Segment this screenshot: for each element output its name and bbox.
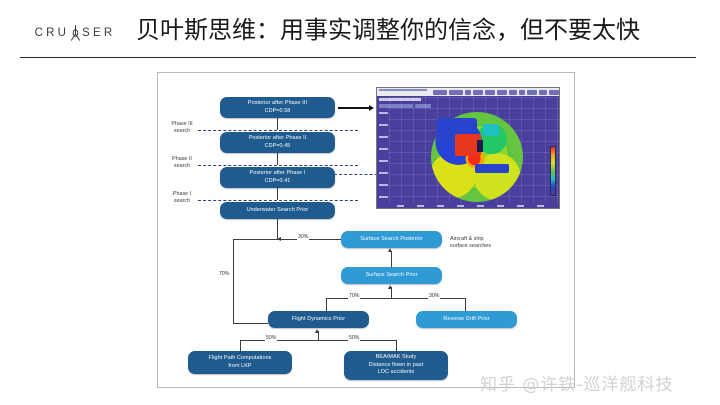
pct-30-to-underwater: 30% [297,234,309,240]
connector-uw-down [277,219,278,240]
pct-70-flight-dynamics: 70% [348,293,360,299]
arrow-fd-in [315,329,319,333]
arrow-ssprior-in [388,285,392,289]
connector-ssprior-ssposterior [391,251,392,267]
pct-50-flight-path: 50% [265,335,277,341]
diagram-canvas: Phase III search Phase II search Phase I… [158,73,576,389]
connector-bottom-left [240,340,241,351]
connector-30pct [281,239,341,240]
phase-3-divider [198,130,358,131]
phase-1-divider [198,200,358,201]
phase-3-label: Phase III search [162,121,202,135]
bayesian-search-diagram: Phase III search Phase II search Phase I… [157,72,575,388]
heatmap-pointer-arrow [369,105,374,111]
pct-50-bea-mak: 50% [348,335,360,341]
probability-distribution-heatmap [376,87,560,209]
connector-ssprior-down [391,287,392,298]
connector-70pct-bottom [233,323,268,324]
connector-70pct-top [233,239,281,240]
slide-root: CRU SER 贝叶斯思维：用事实调整你的信念，但不要太快 Phase III … [0,0,720,405]
page-title: 贝叶斯思维：用事实调整你的信念，但不要太快 [136,12,711,48]
heatmap-colorbar [550,146,556,196]
node-surface-search-prior[interactable]: Surface Search Prior [341,267,442,284]
node-underwater-search-prior[interactable]: Underwater Search Prior [220,202,335,219]
node-posterior-phase-1[interactable]: Posterior after Phase I CDP=0.41 [220,167,335,188]
node-bea-mak-study[interactable]: BEA/MAK Study Distance flown in past LOC… [344,351,448,380]
connector-bottom-bar [240,340,396,341]
connector-p1-p2 [277,152,278,165]
node-posterior-phase-2[interactable]: Posterior after Phase II CDP=0.45 [220,132,335,153]
heatmap-blue-region-2 [475,164,509,173]
logo-text-right: SER [82,27,115,39]
node-reverse-drift-prior[interactable]: Reverse Drift Prior [416,311,517,328]
pct-70-from-surface: 70% [218,271,230,277]
header-divider [20,57,696,58]
node-posterior-phase-3[interactable]: Posterior after Phase III CDP=0.58 [220,97,335,118]
connector-70pct-vertical [233,239,234,323]
zhihu-watermark: 知乎 @许铁-巡洋舰科技 [480,370,674,395]
phase-2-label: Phase II search [162,156,202,170]
connector-branch-right [465,298,466,311]
cruiser-ship-mark-icon [69,25,82,41]
connector-p2-p3 [277,117,278,130]
connector-branch-left [326,298,327,311]
surface-search-note: Aircraft & ship surface searches [450,236,520,250]
logo-text: CRU SER [35,25,116,41]
phase-2-divider [198,165,358,166]
node-flight-dynamics-prior[interactable]: Flight Dynamics Prior [268,311,369,328]
connector-bottom-right [396,340,397,351]
phase-1-label: Phase I search [162,191,202,205]
pct-30-reverse-drift: 30% [428,293,440,299]
heatmap-marker [477,140,483,152]
arrow-ssprior-ssposterior [388,248,392,252]
node-surface-search-posterior[interactable]: Surface Search Posterior [341,231,442,248]
connector-branch-bar [326,298,465,299]
heatmap-menubar [379,89,427,91]
heatmap-cyan-region [483,124,499,136]
heatmap-pointer-shaft [338,107,370,109]
connector-uw-p1 [277,187,278,200]
node-flight-path-computations[interactable]: Flight Path Computations from LKP [188,351,292,374]
logo-text-left: CRU [35,27,70,39]
cruiser-logo: CRU SER [20,20,130,46]
